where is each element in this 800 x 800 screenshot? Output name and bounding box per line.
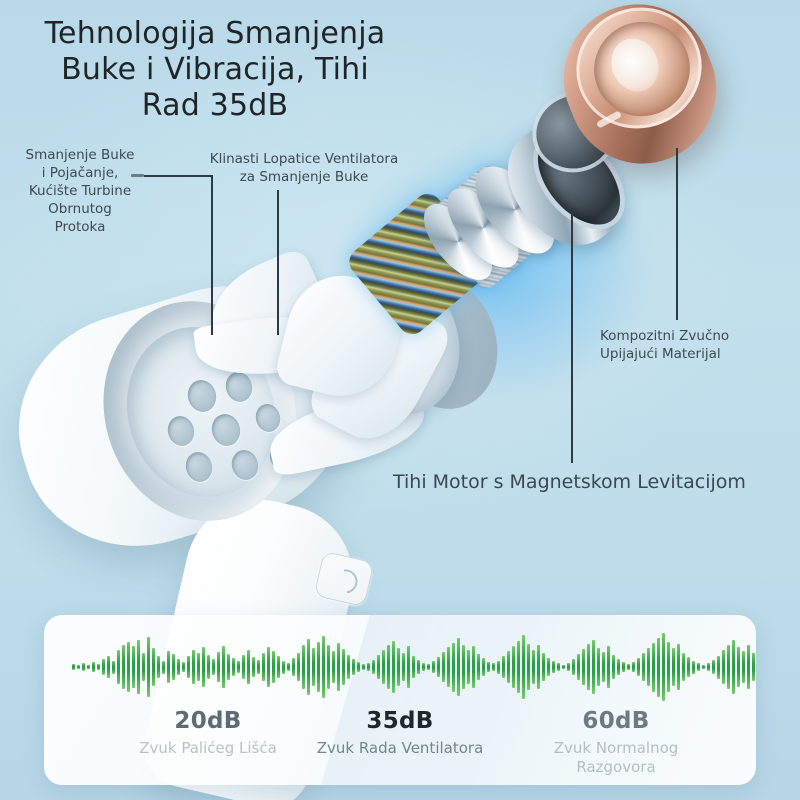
audio-waveform-chart <box>72 631 728 703</box>
waveform-bar <box>417 660 420 674</box>
waveform-bar <box>557 663 560 670</box>
callout-turbine-line-5: Protoka <box>6 218 154 236</box>
waveform-bar <box>472 646 475 688</box>
callout-acoustic-material: Kompozitni Zvučno Upijajući Materijal <box>600 327 800 363</box>
waveform-bar <box>327 645 330 688</box>
waveform-bar <box>462 645 465 690</box>
waveform-bar <box>187 656 190 678</box>
waveform-bar <box>752 653 755 680</box>
leader-line-blades <box>277 190 279 335</box>
waveform-bar <box>207 655 210 680</box>
legend-caption: Zvuk Rada Ventilatora <box>280 739 520 758</box>
waveform-bar <box>157 656 160 678</box>
waveform-bar <box>72 664 75 670</box>
waveform-bar <box>622 662 625 672</box>
waveform-bar <box>132 646 135 688</box>
waveform-bar <box>687 657 690 677</box>
waveform-bar <box>302 645 305 690</box>
waveform-bar <box>677 644 680 690</box>
callout-turbine-housing: Smanjenje Buke i Pojačanje, Kućište Turb… <box>6 146 154 236</box>
waveform-bar <box>112 661 115 674</box>
legend-db-value: 60dB <box>496 707 736 735</box>
waveform-bar <box>517 641 520 693</box>
callout-turbine-line-4: Obrnutog <box>6 200 154 218</box>
waveform-bar <box>432 661 435 673</box>
waveform-bar <box>312 648 315 687</box>
waveform-bar <box>137 640 140 695</box>
waveform-bar <box>317 642 320 692</box>
callout-magnetic-motor: Tihi Motor s Magnetskom Levitacijom <box>393 470 773 494</box>
callout-turbine-line-3: Kućište Turbine <box>6 182 154 200</box>
waveform-bar <box>702 665 705 669</box>
waveform-bar <box>672 648 675 685</box>
waveform-bar <box>542 653 545 680</box>
waveform-bar <box>447 647 450 687</box>
waveform-bar <box>287 663 290 670</box>
waveform-bar <box>382 650 385 685</box>
waveform-bar <box>467 650 470 683</box>
callout-turbine-line-1: Smanjenje Buke <box>6 146 154 164</box>
waveform-bar <box>637 658 640 677</box>
waveform-bar <box>322 636 325 698</box>
waveform-bar <box>277 656 280 678</box>
waveform-bar <box>162 661 165 674</box>
waveform-bar <box>172 654 175 680</box>
callout-fan-blades: Klinasti Lopatice Ventilatora za Smanjen… <box>206 150 402 186</box>
leader-line-motor <box>571 208 573 463</box>
legend-caption-line-1: Zvuk Rada Ventilatora <box>280 739 520 758</box>
waveform-bar <box>392 641 395 693</box>
waveform-bar <box>717 656 720 679</box>
waveform-bar <box>402 653 405 682</box>
waveform-bar <box>247 650 250 685</box>
callout-blades-line-1: Klinasti Lopatice Ventilatora <box>206 150 402 168</box>
waveform-bar <box>272 651 275 683</box>
waveform-bar <box>742 651 745 683</box>
waveform-bar <box>572 659 575 675</box>
waveform-bar <box>152 648 155 685</box>
waveform-bar <box>507 651 510 683</box>
waveform-bar <box>377 655 380 680</box>
waveform-bar <box>232 658 235 677</box>
waveform-bar <box>332 651 335 683</box>
waveform-bar <box>92 662 95 672</box>
waveform-bar <box>552 661 555 673</box>
waveform-bar <box>592 640 595 695</box>
waveform-bar <box>192 650 195 685</box>
waveform-bar <box>662 633 665 701</box>
waveform-bar <box>497 661 500 674</box>
waveform-bar <box>117 650 120 683</box>
waveform-bar <box>582 649 585 685</box>
waveform-bar <box>657 638 660 697</box>
title-line-3: Rad 35dB <box>0 88 430 124</box>
waveform-bar <box>87 665 90 669</box>
waveform-bar <box>547 658 550 677</box>
waveform-bar <box>82 663 85 670</box>
waveform-bar <box>492 663 495 670</box>
waveform-bar <box>437 657 440 677</box>
infographic-canvas: Tehnologija Smanjenja Buke i Vibracija, … <box>0 0 800 800</box>
waveform-bar <box>372 660 375 674</box>
waveform-bar <box>607 646 610 688</box>
waveform-bar <box>242 655 245 680</box>
waveform-bar <box>142 653 145 682</box>
callout-motor-line-1: Tihi Motor s Magnetskom Levitacijom <box>393 470 773 494</box>
leader-line-acoustic <box>676 148 678 320</box>
waveform-bar <box>642 653 645 682</box>
legend-item-60db: 60dB Zvuk Normalnog Razgovora <box>496 707 736 777</box>
waveform-bar <box>692 661 695 674</box>
waveform-bar <box>237 661 240 673</box>
waveform-bar <box>577 654 580 680</box>
waveform-bar <box>707 663 710 670</box>
legend-caption-line-1: Zvuk Normalnog <box>496 739 736 758</box>
waveform-bar <box>482 658 485 675</box>
leader-line-turbine-vertical <box>211 175 213 335</box>
waveform-bar <box>352 659 355 675</box>
sound-comparison-panel: 20dB Zvuk Palićeg Lišća 35dB Zvuk Rada V… <box>44 615 756 785</box>
waveform-bar <box>347 655 350 680</box>
waveform-bar <box>267 647 270 687</box>
waveform-bar <box>522 635 525 698</box>
waveform-bar <box>342 649 345 685</box>
waveform-legend: 20dB Zvuk Palićeg Lišća 35dB Zvuk Rada V… <box>44 707 756 781</box>
waveform-bar <box>737 647 740 687</box>
waveform-bar <box>602 652 605 682</box>
waveform-bar <box>617 659 620 675</box>
waveform-bar <box>427 664 430 670</box>
waveform-bar <box>262 653 265 680</box>
waveform-bar <box>182 662 185 672</box>
waveform-bar <box>122 645 125 690</box>
waveform-bar <box>257 660 260 674</box>
waveform-bar <box>727 645 730 688</box>
waveform-bar <box>722 650 725 683</box>
waveform-bar <box>412 656 415 678</box>
waveform-bar <box>502 656 505 678</box>
waveform-bar <box>167 651 170 683</box>
waveform-bar <box>512 646 515 688</box>
callout-acoustic-line-2: Upijajući Materijal <box>600 345 800 363</box>
waveform-bar <box>487 662 490 672</box>
waveform-bar <box>452 643 455 692</box>
legend-item-35db: 35dB Zvuk Rada Ventilatora <box>280 707 520 758</box>
waveform-bar <box>567 663 570 672</box>
waveform-bar <box>102 659 105 675</box>
page-title: Tehnologija Smanjenja Buke i Vibracija, … <box>0 16 430 124</box>
waveform-bar <box>732 640 735 693</box>
waveform-bar <box>562 665 565 669</box>
title-line-1: Tehnologija Smanjenja <box>0 16 430 52</box>
callout-blades-line-2: za Smanjenje Buke <box>206 168 402 186</box>
waveform-bar <box>227 654 230 680</box>
title-line-2: Buke i Vibracija, Tihi <box>0 52 430 88</box>
waveform-bar <box>217 652 220 682</box>
waveform-bar <box>197 653 200 682</box>
waveform-bar <box>537 645 540 688</box>
waveform-bar <box>647 648 650 687</box>
legend-db-value: 35dB <box>280 707 520 735</box>
waveform-bar <box>527 644 530 690</box>
waveform-bar <box>627 664 630 670</box>
waveform-bar <box>747 645 750 690</box>
waveform-bar <box>612 655 615 680</box>
waveform-bar <box>407 646 410 688</box>
waveform-bar <box>457 638 460 696</box>
waveform-bar <box>202 647 205 687</box>
waveform-bar <box>532 650 535 685</box>
waveform-bar <box>297 653 300 682</box>
waveform-bar <box>77 665 80 669</box>
waveform-bar <box>367 663 370 672</box>
waveform-bar <box>212 659 215 675</box>
leader-line-turbine-horizontal <box>144 175 213 177</box>
waveform-bar <box>107 656 110 678</box>
waveform-bar <box>252 657 255 677</box>
waveform-bar <box>362 664 365 670</box>
waveform-bar <box>587 644 590 690</box>
waveform-bar <box>442 652 445 682</box>
waveform-bar <box>697 663 700 670</box>
waveform-bar <box>222 646 225 688</box>
waveform-bar <box>422 663 425 672</box>
waveform-bar <box>387 645 390 688</box>
waveform-bar <box>682 653 685 682</box>
waveform-bar <box>667 642 670 692</box>
callout-turbine-line-2: i Pojačanje, <box>6 164 154 182</box>
waveform-bar <box>597 648 600 687</box>
waveform-bar <box>652 643 655 692</box>
waveform-bar <box>397 648 400 687</box>
waveform-bar <box>477 654 480 680</box>
waveform-bar <box>337 643 340 691</box>
waveform-bar <box>712 660 715 674</box>
waveform-bar <box>97 664 100 671</box>
legend-caption-line-2: Razgovora <box>496 758 736 777</box>
waveform-bar <box>177 659 180 675</box>
callout-acoustic-line-1: Kompozitni Zvučno <box>600 327 800 345</box>
waveform-bar <box>632 662 635 672</box>
legend-caption: Zvuk Normalnog Razgovora <box>496 739 736 777</box>
waveform-bar <box>147 637 150 698</box>
waveform-bar <box>127 642 130 692</box>
waveform-bar <box>307 639 310 695</box>
waveform-bar <box>282 661 285 674</box>
waveform-bar <box>292 658 295 675</box>
waveform-bar <box>357 662 360 672</box>
